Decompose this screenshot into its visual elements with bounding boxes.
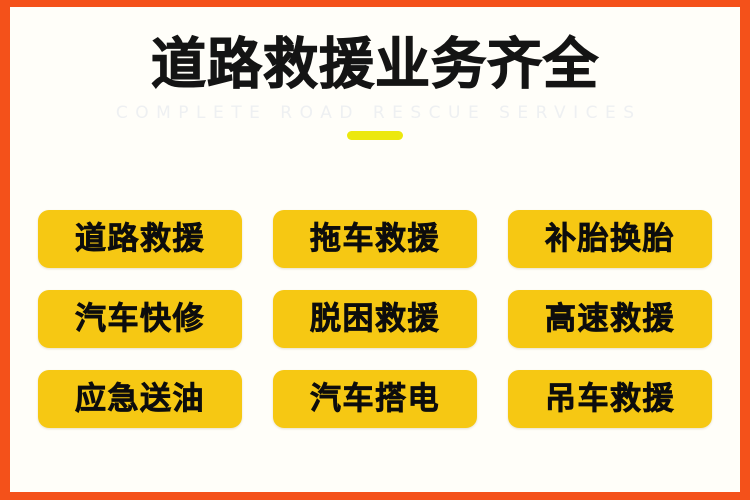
service-button-jump-start[interactable]: 汽车搭电 <box>273 370 477 428</box>
service-button-emergency-fuel[interactable]: 应急送油 <box>38 370 242 428</box>
frame-border-right <box>740 0 750 500</box>
page-title: 道路救援业务齐全 <box>0 36 750 94</box>
service-button-road-rescue[interactable]: 道路救援 <box>38 210 242 268</box>
rescue-services-poster: 道路救援业务齐全 COMPLETE ROAD RESCUE SERVICES 道… <box>0 0 750 500</box>
service-button-tow-rescue[interactable]: 拖车救援 <box>273 210 477 268</box>
page-subtitle: COMPLETE ROAD RESCUE SERVICES <box>0 103 750 123</box>
service-button-highway-rescue[interactable]: 高速救援 <box>508 290 712 348</box>
service-button-extrication[interactable]: 脱困救援 <box>273 290 477 348</box>
service-button-grid: 道路救援 拖车救援 补胎换胎 汽车快修 脱困救援 高速救援 应急送油 汽车搭电 … <box>38 210 712 428</box>
service-button-quick-repair[interactable]: 汽车快修 <box>38 290 242 348</box>
poster-header: 道路救援业务齐全 COMPLETE ROAD RESCUE SERVICES <box>0 36 750 140</box>
title-divider <box>0 131 750 140</box>
frame-border-left <box>0 0 10 500</box>
service-button-tire-repair[interactable]: 补胎换胎 <box>508 210 712 268</box>
frame-border-bottom <box>0 492 750 500</box>
service-button-crane-rescue[interactable]: 吊车救援 <box>508 370 712 428</box>
frame-border-top <box>0 0 750 7</box>
divider-bar <box>347 131 403 140</box>
